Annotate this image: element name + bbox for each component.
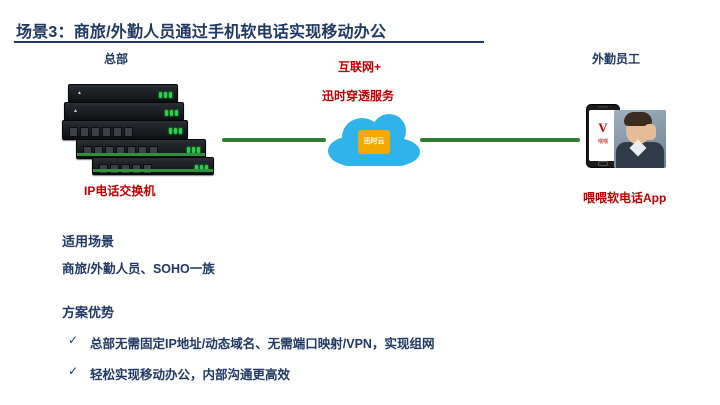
check-icon: ✓ [68, 333, 78, 347]
ip-pbx-device-stack: ▲ ▲ [62, 84, 212, 174]
pbx-front-bar [93, 169, 213, 172]
link-cloud-to-phone [420, 138, 580, 142]
pbx-unit [76, 139, 206, 159]
pbx-unit: ▲ [64, 102, 184, 121]
section-heading-advantages: 方案优势 [62, 302, 114, 321]
advantage-item: 总部无需固定IP地址/动态域名、无需端口映射/VPN，实现组网 [90, 333, 434, 352]
app-name-label: 喂喂 [589, 138, 617, 145]
phone-speaker [598, 106, 608, 108]
page-title: 场景3：商旅/外勤人员通过手机软电话实现移动办公 [16, 18, 386, 42]
hq-label: 总部 [104, 50, 128, 67]
remote-employee-label: 外勤员工 [592, 50, 640, 67]
pbx-front-bar [77, 153, 205, 156]
use-case-line: 商旅/外勤人员、SOHO一族 [62, 258, 215, 277]
cloud-service-badge: 迅时云 [358, 130, 390, 154]
section-heading-use-cases: 适用场景 [62, 231, 114, 250]
pbx-status-leds [165, 110, 178, 116]
pbx-brand-mark: ▲ [73, 108, 78, 114]
cloud-caption-line2: 迅时穿透服务 [322, 87, 394, 104]
title-underline [14, 41, 484, 43]
cloud-caption-line1: 互联网+ [338, 58, 381, 75]
pbx-status-leds [169, 128, 182, 134]
internet-cloud: 迅时云 [328, 112, 420, 168]
slide-canvas: 场景3：商旅/外勤人员通过手机软电话实现移动办公 总部 互联网+ 迅时穿透服务 … [0, 0, 720, 405]
pbx-unit [92, 157, 214, 175]
pbx-brand-mark: ▲ [77, 90, 82, 96]
phone-screen: V 喂喂 [589, 110, 617, 161]
pbx-unit-face [68, 106, 180, 117]
app-logo-icon: V [589, 120, 617, 136]
pbx-unit [62, 120, 188, 140]
advantage-item: 轻松实现移动办公，内部沟通更高效 [90, 364, 290, 383]
phone-home-button [598, 161, 608, 166]
remote-employee-photo [614, 110, 666, 168]
link-hq-to-cloud [222, 138, 326, 142]
pbx-caption: IP电话交换机 [84, 182, 155, 199]
person-hand [644, 124, 656, 140]
pbx-port-row [69, 127, 133, 137]
app-caption: 喂喂软电话App [583, 189, 666, 206]
pbx-status-leds [159, 92, 172, 98]
check-icon: ✓ [68, 364, 78, 378]
pbx-unit: ▲ [68, 84, 178, 103]
